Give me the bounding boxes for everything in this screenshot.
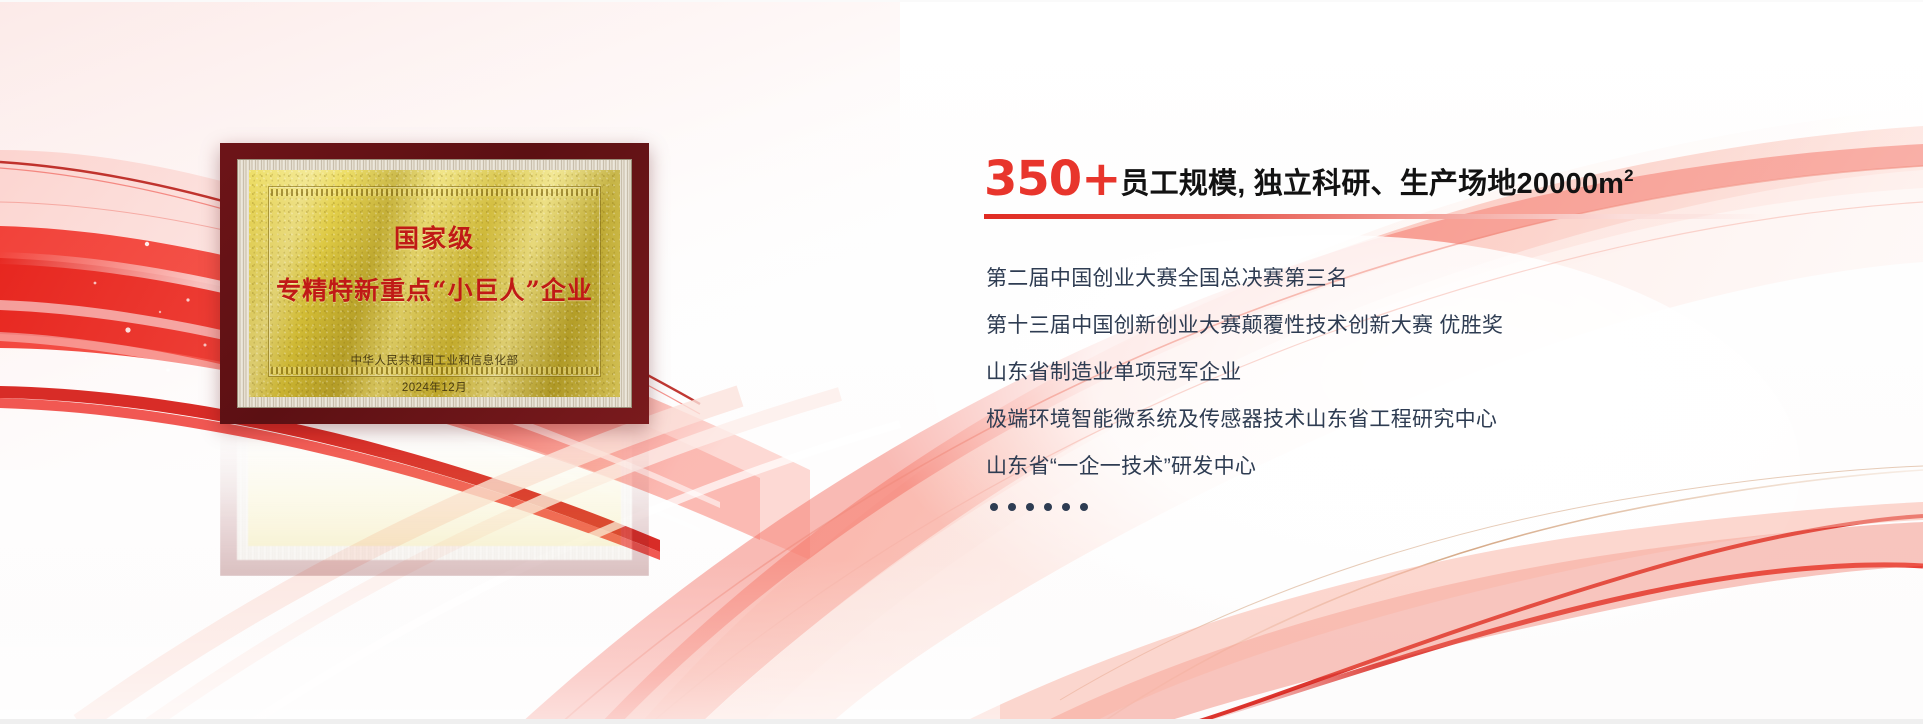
headline: 350+ 员工规模, 独立科研、生产场地20000m 2 bbox=[984, 155, 1634, 203]
achievement-list: 第二届中国创业大赛全国总决赛第三名 第十三届中国创新创业大赛颠覆性技术创新大赛 … bbox=[986, 268, 1846, 511]
plaque-title-line-1: 国家级 bbox=[394, 219, 475, 255]
ellipsis-indicator bbox=[990, 503, 1846, 511]
plaque-title-line-2: 专精特新重点“小巨人”企业 bbox=[276, 271, 593, 307]
list-item: 山东省制造业单项冠军企业 bbox=[986, 362, 1846, 383]
content-column: 350+ 员工规模, 独立科研、生产场地20000m 2 第二届中国创业大赛全国… bbox=[984, 0, 1884, 724]
plaque-text-block: 国家级 专精特新重点“小巨人”企业 中华人民共和国工业和信息化部 2024年12… bbox=[249, 170, 620, 397]
headline-underline bbox=[984, 214, 1766, 219]
list-item: 第二届中国创业大赛全国总决赛第三名 bbox=[986, 268, 1846, 289]
ellipsis-dot bbox=[1008, 503, 1016, 511]
headline-superscript: 2 bbox=[1624, 166, 1633, 186]
ellipsis-dot bbox=[1026, 503, 1034, 511]
ellipsis-dot bbox=[1062, 503, 1070, 511]
list-item: 极端环境智能微系统及传感器技术山东省工程研究中心 bbox=[986, 409, 1846, 430]
list-item: 第十三届中国创新创业大赛颠覆性技术创新大赛 优胜奖 bbox=[986, 315, 1846, 336]
plaque-reflection bbox=[220, 426, 649, 576]
plaque-gold-plate: 国家级 专精特新重点“小巨人”企业 中华人民共和国工业和信息化部 2024年12… bbox=[249, 170, 620, 397]
headline-text: 员工规模, 独立科研、生产场地20000m bbox=[1120, 170, 1624, 199]
ellipsis-dot bbox=[1044, 503, 1052, 511]
plaque-issuer: 中华人民共和国工业和信息化部 bbox=[351, 352, 519, 368]
ellipsis-dot bbox=[990, 503, 998, 511]
ellipsis-dot bbox=[1080, 503, 1088, 511]
plaque-silver-border: 国家级 专精特新重点“小巨人”企业 中华人民共和国工业和信息化部 2024年12… bbox=[237, 159, 632, 408]
list-item: 山东省“一企一技术”研发中心 bbox=[986, 456, 1846, 477]
banner-stage: 国家级 专精特新重点“小巨人”企业 中华人民共和国工业和信息化部 2024年12… bbox=[0, 0, 1923, 724]
plaque-date: 2024年12月 bbox=[402, 379, 467, 395]
award-plaque: 国家级 专精特新重点“小巨人”企业 中华人民共和国工业和信息化部 2024年12… bbox=[220, 143, 649, 424]
plaque-outer-frame: 国家级 专精特新重点“小巨人”企业 中华人民共和国工业和信息化部 2024年12… bbox=[220, 143, 649, 424]
headline-number: 350+ bbox=[984, 155, 1120, 203]
